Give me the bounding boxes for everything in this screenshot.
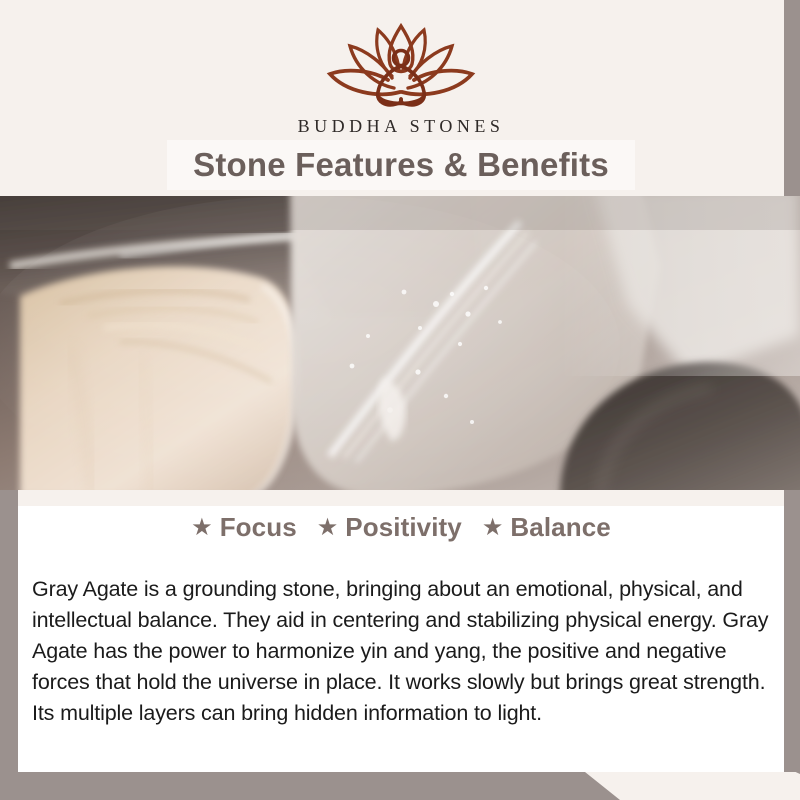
card-header: BUDDHA STONES Stone Features & Benefits xyxy=(18,0,784,196)
stone-description: Gray Agate is a grounding stone, bringin… xyxy=(32,574,780,729)
star-icon: ★ xyxy=(482,516,504,540)
benefit-item-focus: ★ Focus xyxy=(191,512,297,543)
page-title: Stone Features & Benefits xyxy=(193,146,609,184)
body-top-tint xyxy=(18,490,784,506)
benefit-label: Focus xyxy=(220,512,297,543)
brand-logo: BUDDHA STONES xyxy=(18,18,784,137)
frame-accent-bottom-left xyxy=(0,772,620,800)
benefit-item-positivity: ★ Positivity xyxy=(317,512,462,543)
benefit-label: Balance xyxy=(510,512,610,543)
benefits-row: ★ Focus ★ Positivity ★ Balance xyxy=(18,512,784,543)
benefit-item-balance: ★ Balance xyxy=(482,512,611,543)
frame-accent-left xyxy=(0,490,18,800)
star-icon: ★ xyxy=(191,516,213,540)
stone-info-card: BUDDHA STONES Stone Features & Benefits xyxy=(0,0,800,800)
title-banner: Stone Features & Benefits xyxy=(167,140,635,190)
lotus-meditation-icon xyxy=(18,18,784,114)
benefit-label: Positivity xyxy=(345,512,462,543)
star-icon: ★ xyxy=(317,516,339,540)
card-body: ★ Focus ★ Positivity ★ Balance Gray Agat… xyxy=(18,490,784,772)
stone-photo: Gray Agate xyxy=(0,196,800,490)
brand-name: BUDDHA STONES xyxy=(18,116,784,137)
